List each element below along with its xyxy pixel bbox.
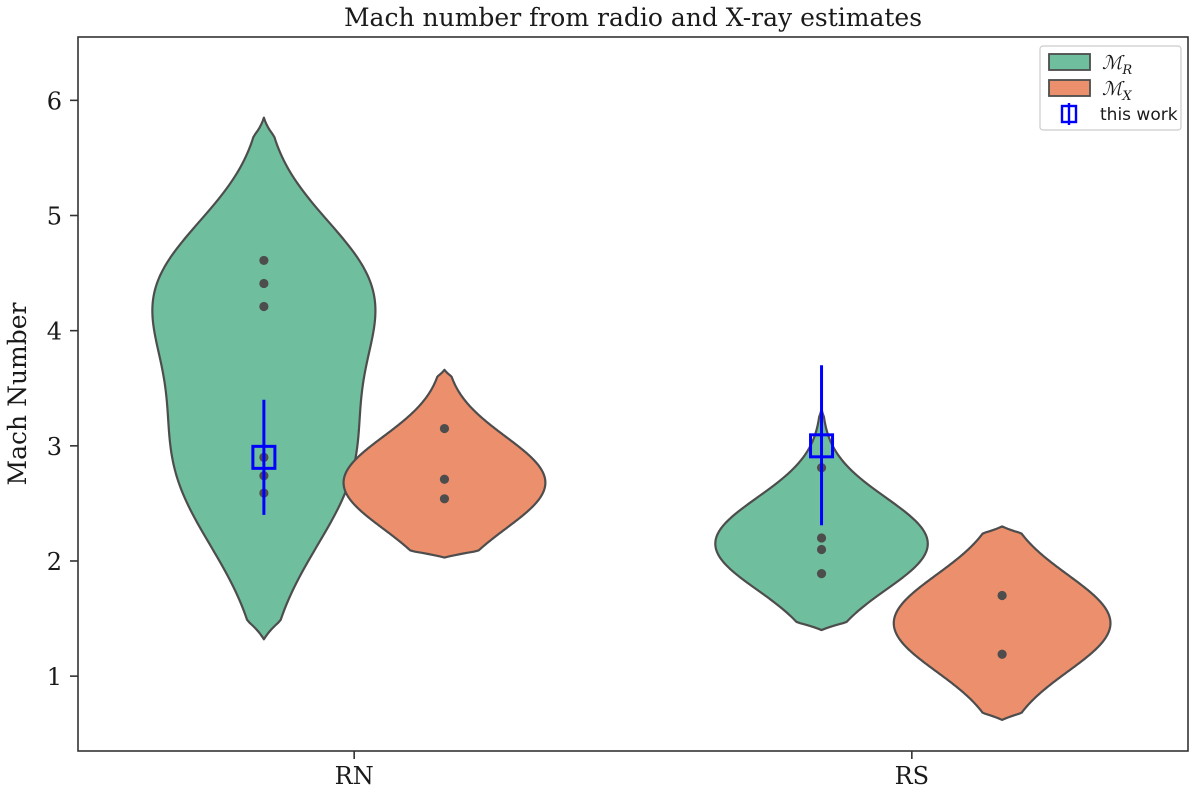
data-point [259,302,268,311]
y-axis-label: Mach Number [3,302,32,485]
violin-bodies [152,118,1110,720]
x-tick-label-rs: RS [895,762,930,790]
legend-label-subscript: R [1121,63,1132,78]
chart-canvas: 123456RNRSMach number from radio and X-r… [0,0,1200,792]
legend[interactable]: ℳRℳXthis work [1040,46,1181,130]
y-tick-label-2: 2 [47,548,62,576]
data-point [817,569,826,578]
violin-mx-rn [344,370,546,558]
data-point [259,279,268,288]
y-tick-label-6: 6 [47,87,62,115]
data-point [440,494,449,503]
legend-label: this work [1100,105,1178,125]
legend-swatch [1049,80,1090,96]
legend-label-subscript: X [1121,89,1132,104]
data-point [998,650,1007,659]
data-point [259,256,268,265]
axis-labels: 123456RNRSMach number from radio and X-r… [3,3,929,790]
data-point [440,475,449,484]
y-tick-label-1: 1 [47,663,62,691]
y-tick-label-5: 5 [47,203,62,231]
data-point [817,533,826,542]
y-tick-label-4: 4 [47,318,62,346]
data-point [998,591,1007,600]
y-tick-label-3: 3 [47,433,62,461]
x-tick-label-rn: RN [335,762,374,790]
violin-chart-figure: 123456RNRSMach number from radio and X-r… [0,0,1200,792]
chart-title: Mach number from radio and X-ray estimat… [344,3,922,32]
legend-swatch [1049,54,1090,70]
data-point [817,545,826,554]
violin-mr-rn [152,118,375,640]
data-point [440,424,449,433]
violin-mx-rs [894,526,1111,719]
